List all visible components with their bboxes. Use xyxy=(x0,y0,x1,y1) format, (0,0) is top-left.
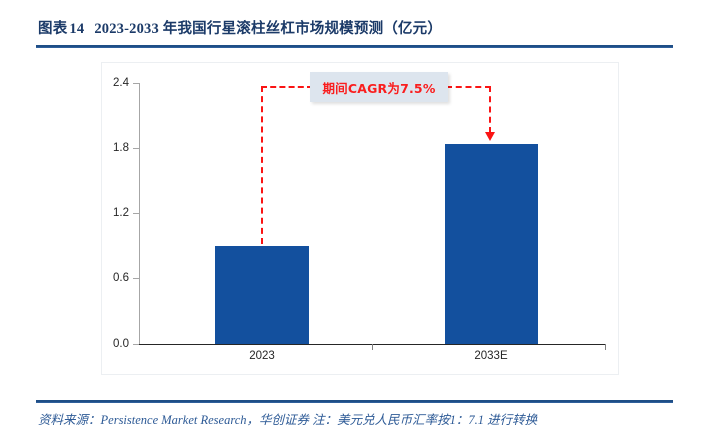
y-tick-1 xyxy=(133,278,139,279)
source-extra-note: 注：美元兑人民币汇率按1：7.1 进行转换 xyxy=(309,413,537,427)
y-axis-label-2: 1.2 xyxy=(95,207,129,219)
source-prefix: 资料来源： xyxy=(38,413,101,427)
footer-divider xyxy=(36,400,673,403)
cagr-annotation-label: 期间CAGR为7.5% xyxy=(322,78,435,97)
figure-title-text: 2023-2033 年我国行星滚柱丝杠市场规模预测（亿元） xyxy=(94,21,442,37)
bar-2033e[interactable] xyxy=(445,144,538,344)
bar-2023[interactable] xyxy=(215,246,309,344)
figure-number: 14 xyxy=(69,21,84,37)
figure-label: 图表 xyxy=(38,21,67,37)
y-tick-4 xyxy=(133,83,139,84)
chart-plot-frame xyxy=(101,62,619,375)
cagr-annotation-box: 期间CAGR为7.5% xyxy=(310,72,448,102)
y-axis-label-4: 2.4 xyxy=(95,77,129,89)
page-title: 图表142023-2033 年我国行星滚柱丝杠市场规模预测（亿元） xyxy=(38,17,442,38)
source-note: 资料来源：Persistence Market Research，华创证券 注：… xyxy=(38,409,537,428)
cagr-right-connector xyxy=(489,86,491,133)
y-axis-label-1: 0.6 xyxy=(95,272,129,284)
x-tick-mid xyxy=(372,344,373,350)
x-axis-label-2033e: 2033E xyxy=(474,350,507,362)
source-name-en: Persistence Market Research xyxy=(101,413,247,427)
cagr-bracket-right xyxy=(446,86,491,88)
header-divider xyxy=(36,45,673,48)
y-tick-3 xyxy=(133,148,139,149)
y-axis-label-3: 1.8 xyxy=(95,142,129,154)
y-axis-label-0: 0.0 xyxy=(95,338,129,350)
cagr-arrow-icon xyxy=(485,132,495,141)
source-name-cn: ，华创证券 xyxy=(247,413,310,427)
x-tick-end xyxy=(605,344,606,350)
y-tick-2 xyxy=(133,213,139,214)
cagr-left-connector xyxy=(261,86,263,244)
cagr-bracket-left xyxy=(261,86,313,88)
x-axis-label-2023: 2023 xyxy=(249,350,275,362)
y-axis-line xyxy=(139,83,140,344)
figure-header: 图表142023-2033 年我国行星滚柱丝杠市场规模预测（亿元） xyxy=(0,0,709,52)
